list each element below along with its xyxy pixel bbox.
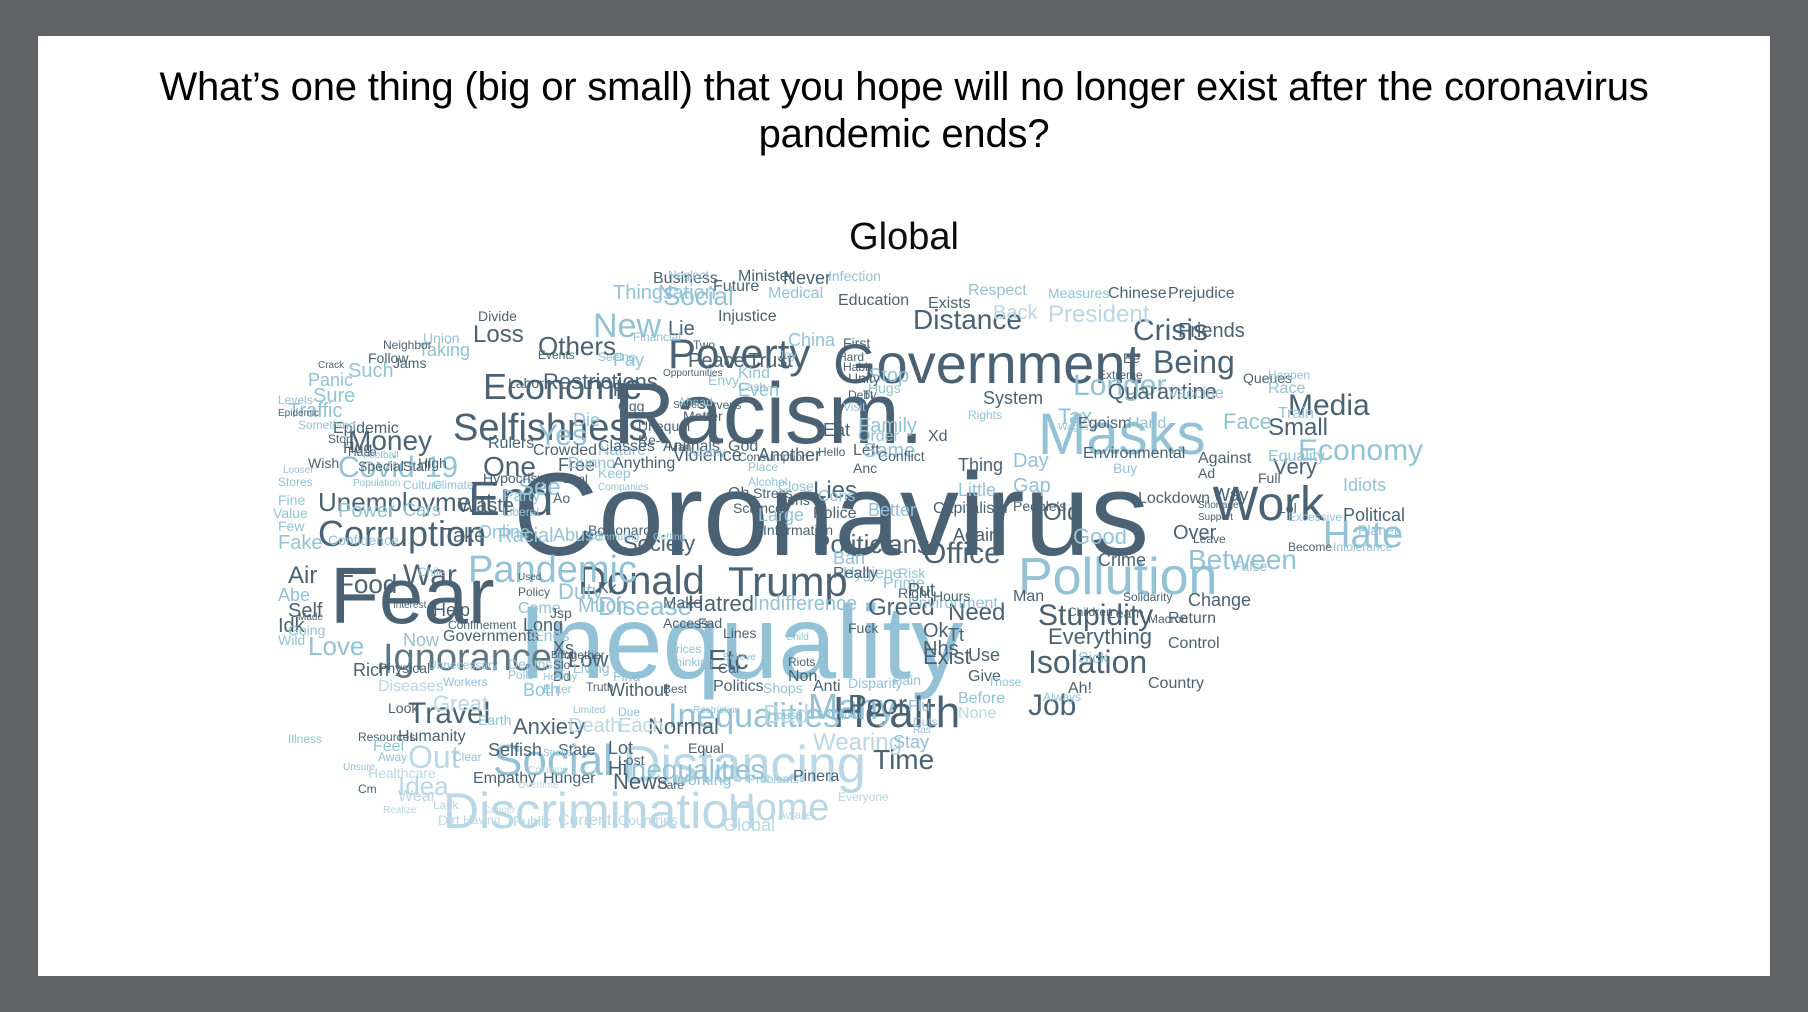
word-cloud-term: Getting [653,533,685,543]
word-cloud-term: Lack [433,799,458,811]
word-cloud-term: Leave [1193,533,1226,545]
word-cloud-term: Planet [1358,523,1398,537]
word-cloud-term: Each [618,716,664,736]
word-cloud-term: Day [1013,451,1049,471]
word-cloud-term: Die [573,411,600,429]
word-cloud-term: Injustice [718,309,777,325]
word-cloud-term: Ff [613,381,629,399]
word-cloud-term: Liberal [503,506,539,518]
word-cloud-term: Take [443,526,485,546]
word-cloud-term: Ras [913,726,931,736]
word-cloud-term: Science [733,501,783,515]
word-cloud-term: Re- [638,433,661,447]
word-cloud-term: Few [278,519,304,533]
word-cloud-term: Vaccine [1168,386,1224,402]
word-cloud-term: Global [723,816,775,834]
word-cloud-term: Limited [573,706,605,716]
word-cloud-term: Hours [933,589,970,603]
word-cloud-term: Shortage [1198,501,1239,511]
word-cloud-term: Realize [383,806,416,816]
word-cloud-term: Excessive [1288,511,1342,523]
word-cloud-term: Respect [968,283,1027,299]
word-cloud-term: Change [1188,591,1251,609]
word-cloud-term: Infection [828,269,881,283]
word-cloud-term: Crack [318,361,344,371]
word-cloud-term: Healthcare [368,766,436,780]
word-cloud-term: People's [1013,499,1066,513]
word-cloud-term: Better [868,501,916,519]
word-cloud-term: Idiots [1343,476,1386,494]
word-cloud-term: Looser [283,466,314,476]
word-cloud-term: Equal [688,741,724,755]
word-cloud-term: Extreme [1098,369,1143,381]
word-cloud-term: Clear [453,751,482,763]
word-cloud-term: Cancer [483,806,515,816]
word-cloud-term: Overtime [518,781,559,791]
word-cloud-term: Current [558,813,611,829]
word-cloud-term: Countries [618,813,678,827]
word-cloud-term: Flu [908,699,930,715]
word-cloud-term: Care [658,779,684,791]
word-cloud-term: Loss [473,323,524,347]
word-cloud-term: Seeing [598,351,635,363]
word-cloud-term: Polls [508,669,534,681]
word-cloud-term: Become [1288,541,1332,553]
word-cloud-term: Exists [928,296,971,312]
word-cloud-term: Put [908,581,935,599]
word-cloud-term: Events [538,349,575,361]
word-cloud-term: Neglect [668,269,709,281]
word-cloud-term: Cars [403,501,441,519]
word-cloud-term: Crime [1098,551,1146,569]
word-cloud-term: Pinera [793,769,839,785]
word-cloud-term: Everyone [838,791,889,803]
word-cloud-term: System [983,389,1043,407]
word-cloud-term: Best [663,683,687,695]
word-cloud-term: Chinese [1108,286,1167,302]
word-cloud-term: Workers [443,676,487,688]
word-cloud-term: Food [338,571,397,597]
word-cloud-term: Education [838,293,909,309]
word-cloud-term: Power [338,501,395,521]
word-cloud-term: Enter [543,683,572,695]
word-cloud-term: Used [518,573,541,583]
word-cloud-term: Hand [1128,416,1166,432]
word-cloud-term: Truth [586,681,614,693]
word-cloud-term: Chile [418,566,445,578]
word-cloud-term: Physical [378,661,430,675]
word-cloud-term: Policy [518,586,550,598]
word-cloud-term: Look [388,701,418,715]
word-cloud-term: Tv [863,389,876,401]
word-cloud-term: Panic [308,371,353,389]
word-cloud-term: Happen [1268,369,1310,381]
word-cloud-term: Everything [1048,626,1152,648]
word-cloud-term: Wear [398,789,436,805]
word-cloud-term: None [958,706,996,722]
word-cloud-term: Restrictions [543,371,658,393]
word-cloud-term: Full [1258,471,1281,485]
word-cloud-term: Help [433,601,470,619]
word-cloud-term: Epidemic [278,409,319,419]
word-cloud-term: Value [273,506,308,520]
word-cloud-term: Control [1168,636,1220,652]
word-cloud-term: Jams [393,356,426,370]
word-cloud-term: Now [403,631,439,649]
word-cloud-term: Before [958,691,1005,707]
word-cloud-term: Wages [1058,423,1089,433]
word-cloud-term: Fake [278,533,322,553]
word-cloud-term: Child [786,633,809,643]
word-cloud-term: Nation [658,283,716,303]
word-cloud-term: Thinking [668,656,713,668]
word-cloud-term: Healthy [543,673,577,683]
word-cloud-term: Abe [278,586,310,604]
word-cloud-term: Macron [1148,613,1188,625]
word-cloud-term: Race [1268,381,1305,397]
word-cloud-term: Pain [893,673,921,687]
word-cloud-term: Eat [823,421,850,439]
word-cloud-term: Mani [668,441,694,453]
word-cloud-term: Party [503,489,540,505]
word-cloud-term: Never [783,269,831,287]
word-cloud-term: Ao [553,491,570,505]
word-cloud-term: Anti [813,679,841,695]
word-cloud-term: Sick [1078,651,1108,667]
slide-frame: What’s one thing (big or small) that you… [38,36,1770,976]
word-cloud-term: Something [298,419,355,431]
word-cloud-term: Streets [673,401,705,411]
word-cloud-term: Fad [698,616,722,630]
word-cloud-term: Unnecessary [428,659,498,671]
word-cloud-term: Hypocrisy [483,471,544,485]
word-cloud-term: Intolerance [1333,541,1392,553]
word-cloud-term: Selfish [488,741,542,759]
word-cloud-term: Problems [748,773,799,785]
word-cloud-term: Friends [1178,321,1245,341]
word-cloud-term: Population [353,479,400,489]
word-cloud-term: Risk [898,566,925,580]
word-cloud-term: Back [993,303,1037,323]
word-cloud-term: Rulers [488,436,534,452]
word-cloud-term: Confinement [448,619,516,631]
word-cloud-term: Dirt [438,813,460,827]
word-cloud-term: Indifference [753,594,857,614]
word-cloud-term: Living [573,661,610,675]
word-cloud-term: Hello [818,446,845,458]
word-cloud-term: Believe [723,653,756,663]
word-cloud-term: Neighbor [383,339,432,351]
word-cloud-term: Find [613,669,640,683]
word-cloud-term: Politics [713,679,764,695]
word-cloud-term: Information [763,523,833,537]
word-cloud-term: Unequal [638,419,690,433]
word-cloud-term: Divide [478,309,517,323]
word-cloud-term: Measures [1048,286,1109,300]
word-cloud-term: Rights [968,409,1002,421]
word-cloud-term: Wearing [813,731,902,755]
word-cloud-term: Cons [818,489,855,505]
word-cloud-term: Man [1013,589,1044,605]
word-cloud-term: Hi [608,759,627,779]
word-cloud-term: Public [513,814,551,828]
word-cloud-term: First [843,336,870,350]
word-cloud-term: Really [833,566,877,582]
word-cloud-term: Opportunities [663,369,722,379]
word-cloud-term: Xd [928,429,948,445]
word-cloud-term: Support [1198,513,1233,523]
word-cloud-term: Football [363,451,399,461]
word-cloud-term: House [768,709,803,721]
word-cloud-term: Boris [778,493,810,507]
word-cloud-term: Equality [1268,449,1325,465]
word-cloud-term: Make [663,596,702,612]
word-cloud-term: Anc [853,461,877,475]
word-cloud-term: Train [1278,406,1314,422]
word-cloud-term: Cash [738,381,766,393]
word-cloud-term: Face [1223,411,1272,433]
word-cloud-term: Those [988,676,1021,688]
word-cloud-term: Cm [358,783,377,795]
word-cloud-term: Order [858,429,899,445]
word-cloud-term: Solidarity [1123,591,1172,603]
word-cloud-term: Going [288,623,325,637]
word-cloud-term: Tt [948,626,964,644]
word-cloud-term: Special [358,459,404,473]
word-cloud-term: China [788,331,835,349]
word-cloud-term: Stores [278,476,313,488]
word-cloud-term: Police [813,506,857,522]
word-cloud-term: Financial [633,331,681,343]
word-cloud-term: Stroke [543,749,572,759]
word-cloud-term: Medical [768,286,823,302]
word-cloud-term: High [418,456,447,470]
word-cloud-term: False [1233,559,1267,573]
word-cloud-term: Riots [788,656,815,668]
word-cloud-term: Keep [598,466,631,480]
word-cloud-term: Little [958,481,996,499]
word-cloud-term: Ggg [618,399,644,413]
word-cloud-term: Gap [1013,476,1051,496]
word-cloud-term: Again [953,526,999,544]
word-cloud-term: Aware [778,809,812,821]
word-cloud-term: Alcohol [748,476,787,488]
word-cloud-term: Buy [1113,461,1137,475]
word-cloud-term: Learn [1108,606,1144,620]
word-cloud-term: Fuck [848,621,878,635]
word-cloud-term: Prejudice [1168,286,1235,302]
word-cloud-term: Children [1068,606,1113,618]
word-cloud-term: Use [968,646,1000,664]
word-cloud-term: Restriction [693,706,740,716]
word-cloud-term: Prices [668,643,701,655]
word-cloud: CoronavirusInequalityRacism.FearGovernme… [268,261,1558,821]
word-cloud-term: Away [378,751,407,763]
word-cloud-term: Visit [843,401,865,413]
word-cloud-term: Country [1148,676,1204,692]
page-title: What’s one thing (big or small) that you… [158,64,1650,158]
word-cloud-term: Death [568,716,621,736]
word-cloud-term: Interest [393,601,426,611]
word-cloud-term: Deal [563,473,588,485]
word-cloud-term: Car [718,661,741,675]
word-cloud-term: Lines [723,626,756,640]
word-cloud-term: Companies [598,483,649,493]
word-cloud-term: Oh [728,486,749,502]
word-cloud-term: Columns [528,766,567,776]
word-cloud-term: Much [578,596,627,616]
word-cloud-term: Confidence [328,533,399,547]
word-cloud-term: Racial [498,526,554,546]
word-cloud-term: Good [1073,526,1127,548]
word-cloud-term: Unsure [343,763,375,773]
word-cloud-term: Always [1043,691,1081,703]
word-cloud-term: Climate [433,479,474,491]
word-cloud-term: President [1048,303,1149,327]
word-cloud-term: Joy [778,349,797,361]
word-cloud-term: Levels [278,394,313,406]
word-cloud-term: Thing [958,456,1003,474]
word-cloud-term: Commuting [588,533,639,543]
word-cloud-term: Hard [838,351,864,363]
word-cloud-term: Due [618,706,640,718]
word-cloud-term: Two [693,339,715,351]
word-cloud-term: Conflict [878,449,925,463]
word-cloud-term: Granted [828,711,864,721]
word-cloud-term: Ee [1123,351,1140,365]
word-cloud-term: Ad [1198,466,1215,480]
page-subtitle: Global [158,216,1650,259]
word-cloud-term: Illness [288,733,322,745]
word-cloud-term: Earth [478,713,511,727]
word-cloud-term: Jsp [550,606,572,620]
word-cloud-term: Consumption [738,451,809,463]
word-cloud-term: Labor [508,376,544,390]
word-cloud-term: Capitalism [933,501,1008,517]
